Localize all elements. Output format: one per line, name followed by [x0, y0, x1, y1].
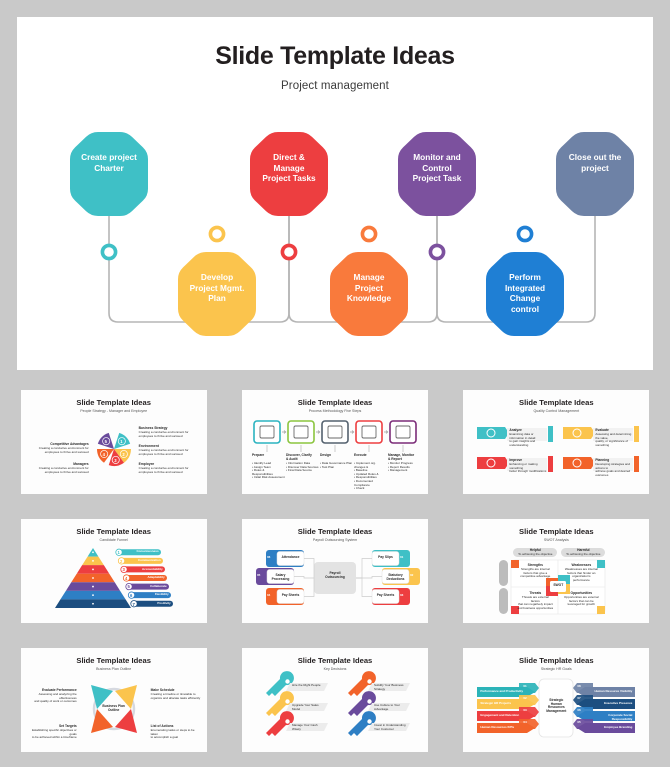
thumbnail-body: 12345Business StrategyCreating a conduci… — [21, 413, 207, 487]
thumbnail-title: Slide Template Ideas — [242, 527, 428, 536]
key-hole — [285, 679, 289, 683]
banner-desc: Developing strategies and actions to ach… — [595, 463, 633, 477]
level-label: Adaptability — [130, 576, 165, 580]
arrow-icon — [384, 431, 388, 434]
spoke-connector — [356, 559, 372, 579]
banner-icon — [477, 457, 509, 469]
hr-label: Performance and Productivity — [480, 690, 524, 694]
swot-side — [499, 560, 508, 586]
arrow-icon — [350, 431, 354, 434]
segment-number: 1 — [117, 439, 125, 444]
banner-accent — [634, 426, 639, 442]
level-dot — [92, 594, 94, 596]
spoke-label: Attendance — [278, 556, 303, 560]
spoke-label: Pay Slips — [373, 556, 398, 560]
key-hole — [367, 679, 371, 683]
level-dot — [92, 551, 94, 553]
swot-quad-desc: Threats are external factors that can ne… — [517, 596, 553, 610]
spoke-label: Statutory Deductions — [383, 574, 408, 581]
thumbnail-card[interactable]: Slide Template IdeasQuality Control Mana… — [463, 390, 649, 494]
key-hole — [367, 699, 371, 703]
key-label: Use Culture to Your Advantage — [374, 704, 408, 711]
banner-accent — [634, 456, 639, 472]
step-icon-box — [288, 421, 314, 443]
key-label: Hire the Right People — [292, 684, 326, 688]
key-label: Invest in Understanding Your Customer — [374, 724, 408, 731]
arrow-desc: Assessing and analyzing the effectivenes… — [27, 693, 77, 704]
swot-header-desc: To achieving the objective — [561, 553, 605, 557]
hexagon-node — [398, 132, 476, 216]
hr-center-label: Strategic Human Resources Management — [540, 699, 572, 713]
item-desc: Creating a conducive environment for emp… — [139, 449, 197, 456]
spoke-connector — [294, 577, 314, 579]
level-label: Accountability — [128, 568, 163, 572]
banner-icon — [563, 427, 595, 439]
page-subtitle: Project management — [17, 80, 653, 92]
item-desc: Creating a conducive environment for emp… — [139, 467, 197, 474]
thumbnail-card[interactable]: Slide Template IdeasPeople Strategy - Ma… — [21, 390, 207, 494]
step-bullets: • Monitor Progress • Report Results • Ma… — [388, 462, 421, 473]
hr-label: Strategic HR Projects — [480, 702, 524, 706]
level-number: 2 — [117, 559, 125, 564]
spoke-number: 06 — [267, 556, 276, 560]
hr-number: 08 — [577, 685, 589, 689]
level-number: 5 — [125, 584, 133, 589]
page-title: Slide Template Ideas — [17, 42, 653, 71]
step-title: Design — [320, 454, 352, 458]
hexagon-node — [70, 132, 148, 216]
thumbnail-card[interactable]: Slide Template IdeasCandidate Funnel1Con… — [21, 519, 207, 623]
hexagon-shapes — [70, 132, 634, 336]
hexagon-node — [250, 132, 328, 216]
connector-ring — [282, 245, 295, 258]
thumbnail-title: Slide Template Ideas — [21, 398, 207, 407]
swot-center-label: SWOT — [550, 584, 566, 588]
key-hole — [367, 719, 371, 723]
diagram-canvas — [17, 122, 653, 362]
spoke-number: 05 — [257, 574, 266, 578]
thumbnail-slide[interactable]: Slide Template IdeasBusiness Plan Outlin… — [6, 638, 221, 761]
thumbnail-card[interactable]: Slide Template IdeasSWOT AnalysisSWOTHel… — [463, 519, 649, 623]
thumbnail-body: 06Attendance05Salary Processing04Pay She… — [242, 542, 428, 616]
thumbnail-slide[interactable]: Slide Template IdeasStrategic HR Goals01… — [449, 638, 664, 761]
hr-number: 01 — [523, 685, 535, 689]
segment-number: 5 — [102, 439, 110, 444]
segment-number: 3 — [111, 458, 119, 463]
hr-number: 04 — [523, 721, 535, 725]
level-dot — [92, 586, 94, 588]
step-icon-box — [322, 421, 348, 443]
hr-label: Engagement and Retention — [480, 714, 524, 718]
thumbnail-graphic — [21, 542, 207, 616]
spoke-connector — [304, 559, 314, 579]
arrow-desc: Establishing specific objectives or goal… — [27, 729, 77, 740]
spoke-number: 04 — [267, 594, 276, 598]
spoke-number: 02 — [410, 574, 419, 578]
spoke-label: Pay Sheets — [373, 594, 398, 598]
step-title: Prepare — [252, 454, 284, 458]
level-number: 1 — [115, 550, 123, 555]
connector-ring — [102, 245, 115, 258]
thumbnail-title: Slide Template Ideas — [242, 656, 428, 665]
spoke-number: 01 — [400, 556, 409, 560]
level-dot — [92, 569, 94, 571]
spoke-connector — [304, 578, 314, 597]
swot-quad-desc: Weaknesses are internal factors that hin… — [563, 568, 599, 582]
center-label: Business Plan Outline — [97, 705, 131, 712]
level-label: Communication — [125, 559, 161, 563]
level-number: 7 — [130, 602, 138, 607]
step-title: Execute — [354, 454, 386, 458]
thumbnail-grid: Slide Template IdeasPeople Strategy - Ma… — [0, 378, 670, 767]
banner-desc: Enhancing or making something better thr… — [509, 463, 547, 474]
swot-quad-desc: Strengths are internal factors that give… — [517, 568, 553, 579]
hr-label: Corporate Social Responsibility — [588, 714, 632, 721]
level-dot — [92, 577, 94, 579]
spoke-label: Pay Sheets — [278, 594, 303, 598]
hr-number: 06 — [577, 709, 589, 713]
thumbnail-title: Slide Template Ideas — [242, 398, 428, 407]
level-label: Positivity — [138, 602, 171, 606]
thumbnail-title: Slide Template Ideas — [21, 656, 207, 665]
thumbnail-body: SWOTHelpfulTo achieving the objectiveHar… — [463, 542, 649, 616]
key-label: Manage Your Cash Wisely — [292, 724, 326, 731]
thumbnail-slide[interactable]: Slide Template IdeasCandidate Funnel1Con… — [6, 509, 221, 632]
swot-side — [499, 588, 508, 614]
banner-accent — [548, 426, 553, 442]
item-desc: Creating a conducive environment for emp… — [31, 467, 89, 474]
arrow-icon — [316, 431, 320, 434]
level-number: 4 — [122, 576, 130, 581]
hr-label: Human Resource Visibility — [588, 690, 632, 694]
thumbnail-card[interactable]: Slide Template IdeasStrategic HR Goals01… — [463, 648, 649, 752]
thumbnail-body: AnalyzeExamining data or information in … — [463, 413, 649, 487]
slide-deck-page: Slide Template Ideas Project management … — [0, 0, 670, 767]
level-dot — [92, 603, 94, 605]
hexagon-process-diagram: Create project CharterDevelop Project Mg… — [17, 122, 653, 362]
step-bullets: • Information Data • Discover Data Sourc… — [286, 462, 319, 473]
banner-icon — [563, 457, 595, 469]
thumbnail-slide[interactable]: Slide Template IdeasProcess Methodology … — [227, 380, 442, 503]
step-bullets: • Data Governance Plan • Test Plan — [320, 462, 353, 469]
connector-ring — [210, 227, 223, 240]
thumbnail-title: Slide Template Ideas — [21, 527, 207, 536]
spoke-connector — [356, 578, 372, 597]
arrow-icon — [282, 431, 286, 434]
hr-label: Employee Branding — [588, 726, 632, 730]
arrow-desc: Enumerating tasks or steps to be taken t… — [151, 729, 201, 740]
thumbnail-card[interactable]: Slide Template IdeasBusiness Plan Outlin… — [21, 648, 207, 752]
connector-ring — [430, 245, 443, 258]
level-number: 3 — [120, 567, 128, 572]
hr-label: Executive Presence — [588, 702, 632, 706]
step-icon-box — [356, 421, 382, 443]
step-icon-box — [390, 421, 416, 443]
hub-label: Payroll Outsourcing — [316, 572, 354, 579]
main-slide: Slide Template Ideas Project management … — [17, 17, 653, 370]
step-bullets: • Identify Lead • Assign Team • Roles & … — [252, 462, 285, 480]
spoke-label: Salary Processing — [268, 574, 293, 581]
thumbnail-slide[interactable]: Slide Template IdeasPayroll Outsourcing … — [227, 509, 442, 632]
connector-ring — [362, 227, 375, 240]
spoke-number: 03 — [400, 594, 409, 598]
key-label: Solidify Your Business Strategy — [374, 684, 408, 691]
step-bullets: • Implement org. changes & • Baseline • … — [354, 462, 387, 491]
thumbnail-slide[interactable]: Slide Template IdeasQuality Control Mana… — [449, 380, 664, 503]
hexagon-node — [486, 252, 564, 336]
key-hole — [285, 719, 289, 723]
level-label: Consciousness — [123, 550, 159, 554]
step-icon-box — [254, 421, 280, 443]
item-desc: Creating a conducive environment for emp… — [27, 447, 89, 454]
item-desc: Creating a conducive environment for emp… — [139, 431, 197, 438]
hexagon-node — [330, 252, 408, 336]
hr-number: 05 — [577, 721, 589, 725]
arrow-desc: Creating a timeline or timetable to orga… — [151, 693, 201, 700]
thumbnail-title: Slide Template Ideas — [463, 527, 649, 536]
hr-number: 07 — [577, 697, 589, 701]
swot-header-desc: To achieving the objective — [513, 553, 557, 557]
thumbnail-title: Slide Template Ideas — [463, 398, 649, 407]
banner-icon — [477, 427, 509, 439]
hr-label: Human Resources KPIs — [480, 726, 524, 730]
segment-number: 4 — [100, 452, 108, 457]
banner-desc: Examining data or information in detail … — [509, 433, 547, 447]
thumbnail-body: Business Plan OutlineEvaluate Performanc… — [21, 671, 207, 745]
thumbnail-body: 01Performance and Productivity02Strategi… — [463, 671, 649, 745]
key-hole — [285, 699, 289, 703]
swot-quad-desc: Opportunities are external factors that … — [563, 596, 599, 607]
thumbnail-card[interactable]: Slide Template IdeasProcess Methodology … — [242, 390, 428, 494]
thumbnail-body: Hire the Right PeopleSolidify Your Busin… — [242, 671, 428, 745]
connector-ring — [518, 227, 531, 240]
thumbnail-slide[interactable]: Slide Template IdeasKey DecisionsHire th… — [227, 638, 442, 761]
thumbnail-card[interactable]: Slide Template IdeasKey DecisionsHire th… — [242, 648, 428, 752]
thumbnail-body: Prepare• Identify Lead • Assign Team • R… — [242, 413, 428, 487]
hr-number: 02 — [523, 697, 535, 701]
connector-rings — [102, 227, 531, 258]
thumbnail-card[interactable]: Slide Template IdeasPayroll Outsourcing … — [242, 519, 428, 623]
banner-desc: Assessing and determining the value, qua… — [595, 433, 633, 447]
level-label: Flexibility — [135, 593, 169, 597]
segment-number: 2 — [120, 452, 128, 457]
key-label: Upgrade Your Sales Model — [292, 704, 326, 711]
thumbnail-slide[interactable]: Slide Template IdeasPeople Strategy - Ma… — [6, 380, 221, 503]
level-label: Collaborate — [133, 585, 167, 589]
banner-accent — [548, 456, 553, 472]
swot-corner — [597, 606, 605, 614]
hr-number: 03 — [523, 709, 535, 713]
level-dot — [92, 560, 94, 562]
hexagon-node — [556, 132, 634, 216]
level-number: 6 — [127, 593, 135, 598]
thumbnail-body: 1Consciousness2Communication3Accountabil… — [21, 542, 207, 616]
thumbnail-slide[interactable]: Slide Template IdeasSWOT AnalysisSWOTHel… — [449, 509, 664, 632]
thumbnail-title: Slide Template Ideas — [463, 656, 649, 665]
hexagon-node — [178, 252, 256, 336]
